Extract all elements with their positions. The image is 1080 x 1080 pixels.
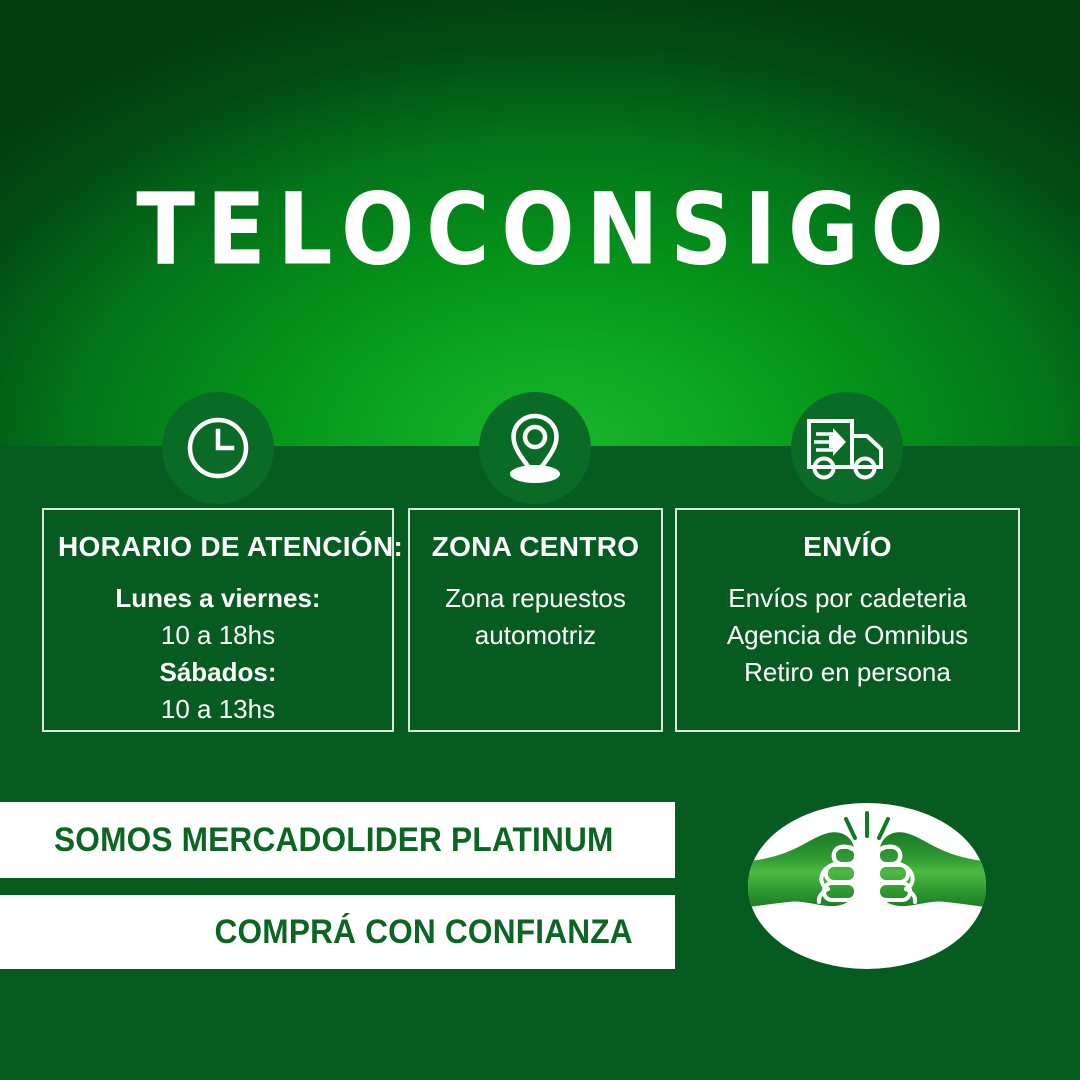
card-title: ENVÍO xyxy=(691,530,1004,564)
card-line: 10 a 18hs xyxy=(58,617,378,654)
map-pin-icon-badge xyxy=(479,392,591,504)
banner-confianza: COMPRÁ CON CONFIANZA xyxy=(0,895,675,969)
card-line: automotriz xyxy=(424,617,647,654)
card-line: Agencia de Omnibus xyxy=(691,617,1004,654)
card-line: 10 a 13hs xyxy=(58,691,378,728)
clock-icon-badge xyxy=(162,392,274,504)
clock-icon xyxy=(185,415,251,481)
banner-text: SOMOS MERCADOLIDER PLATINUM xyxy=(24,821,652,860)
info-card-envio: ENVÍO Envíos por cadeteria Agencia de Om… xyxy=(675,508,1020,732)
card-line: Retiro en persona xyxy=(691,654,1004,691)
card-line: Zona repuestos xyxy=(424,580,647,617)
info-card-horario: HORARIO DE ATENCIÓN: Lunes a viernes: 10… xyxy=(42,508,394,732)
promo-banner: TELOCONSIGO xyxy=(0,0,1080,1080)
banner-text: COMPRÁ CON CONFIANZA xyxy=(24,913,652,952)
card-line: Envíos por cadeteria xyxy=(691,580,1004,617)
banner-mercadolider: SOMOS MERCADOLIDER PLATINUM xyxy=(0,802,675,878)
brand-logo: TELOCONSIGO xyxy=(11,176,1069,284)
delivery-truck-icon-badge xyxy=(791,392,903,504)
delivery-truck-icon xyxy=(805,415,889,481)
card-title: ZONA CENTRO xyxy=(424,530,647,564)
map-pin-icon xyxy=(498,410,572,486)
info-card-zona: ZONA CENTRO Zona repuestos automotriz xyxy=(408,508,663,732)
card-title: HORARIO DE ATENCIÓN: xyxy=(58,530,378,564)
fist-bump-emblem xyxy=(748,803,986,969)
card-line: Lunes a viernes: xyxy=(58,580,378,617)
card-line: Sábados: xyxy=(58,654,378,691)
